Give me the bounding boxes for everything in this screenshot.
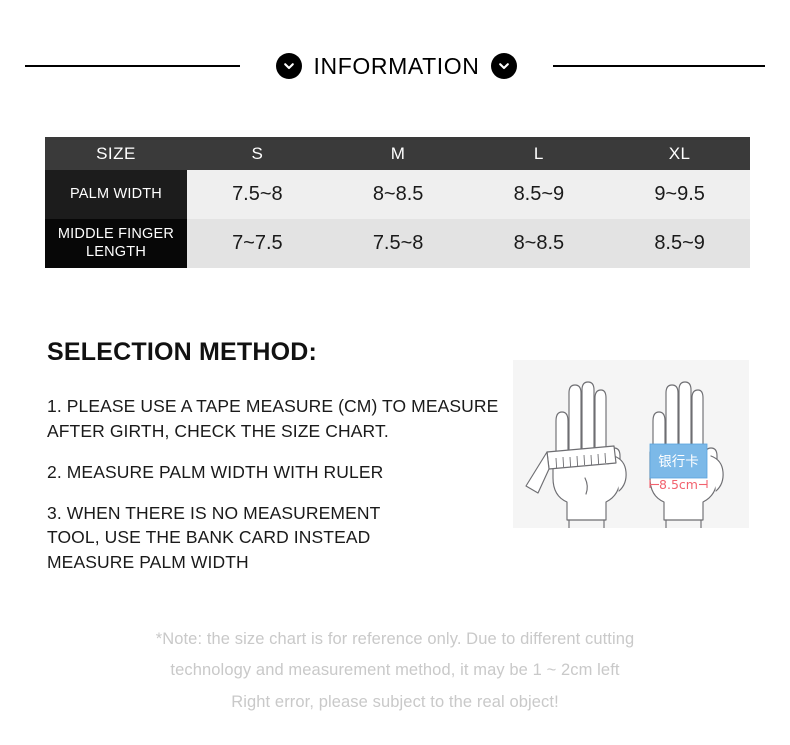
bank-card-label: 银行卡 [658, 454, 699, 470]
chevron-down-circle-icon-left [276, 53, 302, 79]
table-corner-label: SIZE [45, 137, 187, 170]
cell-middle-finger-s: 7~7.5 [187, 219, 328, 268]
header-rule-right [553, 65, 765, 67]
table-row-palm-width: PALM WIDTH 7.5~8 8~8.5 8.5~9 9~9.5 [45, 170, 750, 219]
size-chart-table: SIZE S M L XL PALM WIDTH 7.5~8 8~8.5 8.5… [45, 137, 750, 268]
cell-palm-width-xl: 9~9.5 [609, 170, 750, 219]
table-col-header-s: S [187, 137, 328, 170]
page-header: INFORMATION [0, 48, 790, 84]
disclaimer-note: *Note: the size chart is for reference o… [50, 624, 740, 718]
row-label-middle-finger-length: MIDDLE FINGER LENGTH [45, 219, 187, 268]
note-line-1: *Note: the size chart is for reference o… [50, 624, 740, 655]
selection-step-1: 1. PLEASE USE A TAPE MEASURE (CM) TO MEA… [47, 394, 517, 444]
table-row-middle-finger-length: MIDDLE FINGER LENGTH 7~7.5 7.5~8 8~8.5 8… [45, 219, 750, 268]
cell-palm-width-s: 7.5~8 [187, 170, 328, 219]
hand-measurement-illustration: 银行卡 8.5cm [513, 360, 749, 528]
cell-palm-width-l: 8.5~9 [469, 170, 610, 219]
bank-card-shape: 银行卡 [650, 444, 707, 478]
header-center: INFORMATION [276, 53, 518, 80]
selection-step-3: 3. WHEN THERE IS NO MEASUREMENT TOOL, US… [47, 501, 517, 576]
header-rule-left [25, 65, 240, 67]
cell-middle-finger-m: 7.5~8 [328, 219, 469, 268]
table-col-header-m: M [328, 137, 469, 170]
cell-middle-finger-l: 8~8.5 [469, 219, 610, 268]
table-col-header-xl: XL [609, 137, 750, 170]
selection-step-2: 2. MEASURE PALM WIDTH WITH RULER [47, 460, 517, 485]
cell-middle-finger-xl: 8.5~9 [609, 219, 750, 268]
note-line-3: Right error, please subject to the real … [50, 687, 740, 718]
chevron-down-circle-icon-right [491, 53, 517, 79]
table-header-row: SIZE S M L XL [45, 137, 750, 170]
card-dimension-label: 8.5cm [659, 477, 698, 492]
row-label-palm-width: PALM WIDTH [45, 170, 187, 219]
selection-method-steps: 1. PLEASE USE A TAPE MEASURE (CM) TO MEA… [47, 394, 517, 575]
selection-method-title: SELECTION METHOD: [47, 338, 317, 367]
page-title: INFORMATION [314, 53, 480, 80]
note-line-2: technology and measurement method, it ma… [50, 655, 740, 686]
table-col-header-l: L [469, 137, 610, 170]
cell-palm-width-m: 8~8.5 [328, 170, 469, 219]
